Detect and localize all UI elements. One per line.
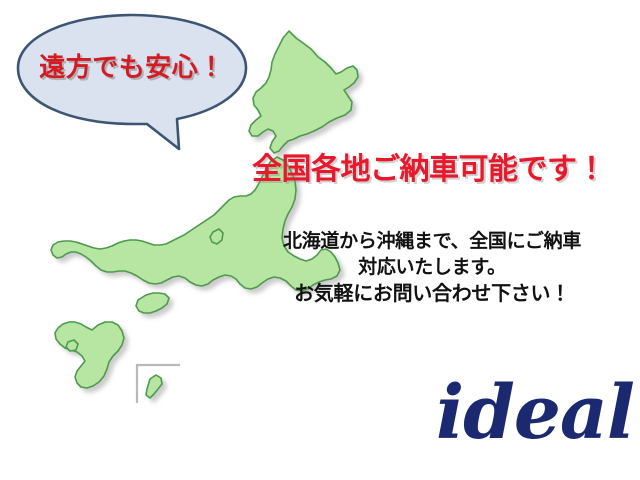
- body-copy: 北海道から沖縄まで、全国にご納車 対応いたします。 お気軽にお問い合わせ下さい！: [252, 228, 612, 306]
- brand-logo: ideal: [436, 376, 634, 450]
- map-region-okinawa: [146, 375, 162, 398]
- map-region-shikoku: [136, 293, 169, 313]
- speech-bubble: 遠方でも安心！: [14, 12, 250, 158]
- map-region-hokkaido: [249, 31, 358, 153]
- map-region-kyushu: [55, 322, 124, 388]
- poster-canvas: 遠方でも安心！ 全国各地ご納車可能です！ 北海道から沖縄まで、全国にご納車 対応…: [0, 0, 640, 480]
- body-copy-line-3: お気軽にお問い合わせ下さい！: [252, 280, 612, 306]
- body-copy-line-1: 北海道から沖縄まで、全国にご納車: [252, 228, 612, 254]
- headline-text: 全国各地ご納車可能です！: [252, 152, 636, 188]
- body-copy-line-2: 対応いたします。: [252, 254, 612, 280]
- map-region-kyushu-inlet: [66, 340, 78, 351]
- speech-bubble-shape: [14, 12, 250, 158]
